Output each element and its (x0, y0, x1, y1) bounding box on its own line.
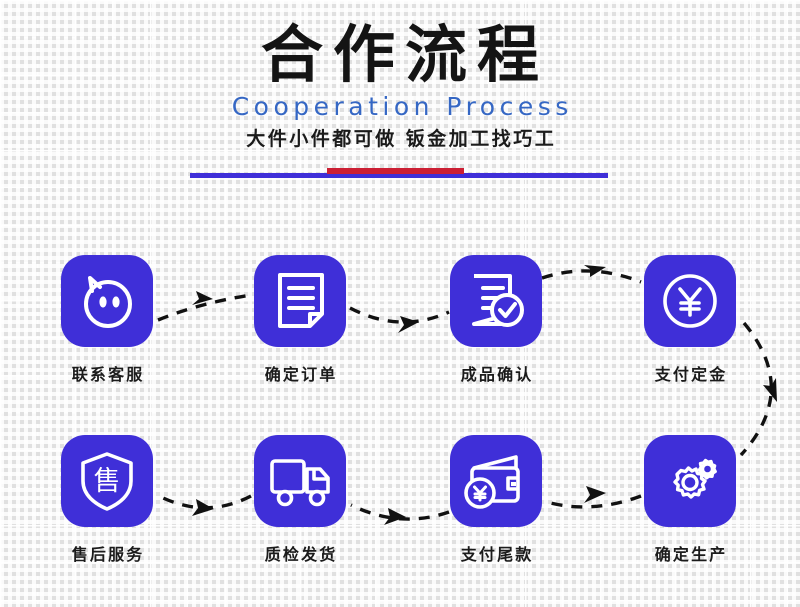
page-title: 合作流程 (0, 0, 800, 89)
flow-step-4[interactable]: 支付定金 (630, 255, 750, 385)
document-check-icon (465, 270, 527, 332)
wallet-yen-icon (464, 451, 528, 511)
flow-step-1[interactable]: 联系客服 (47, 255, 167, 385)
flow-step-7-label: 质检发货 (240, 541, 360, 565)
flow-step-2-tile[interactable] (254, 255, 346, 347)
document-order-icon (270, 270, 330, 332)
flow-step-8-label: 售后服务 (47, 541, 167, 565)
flow-step-6[interactable]: 支付尾款 (436, 435, 556, 565)
delivery-truck-icon (267, 452, 333, 510)
connector-2-to-3 (350, 308, 449, 333)
flow-step-3-tile[interactable] (450, 255, 542, 347)
page-tagline: 大件小件都可做 钣金加工找巧工 (0, 128, 800, 151)
yen-coin-icon (659, 270, 721, 332)
poster-canvas: 合作流程 Cooperation Process 大件小件都可做 钣金加工找巧工 (0, 0, 800, 607)
connector-1-to-2 (158, 291, 251, 320)
header-divider (190, 168, 608, 180)
flow-step-1-label: 联系客服 (47, 361, 167, 385)
flow-step-3[interactable]: 成品确认 (436, 255, 556, 385)
divider-red-bar (327, 168, 464, 174)
connector-6-to-7 (351, 505, 449, 525)
flow-step-3-label: 成品确认 (436, 361, 556, 385)
flow-step-5[interactable]: 确定生产 (630, 435, 750, 565)
shield-glyph: 售 (94, 466, 121, 497)
gears-icon (658, 450, 722, 512)
flow-step-5-tile[interactable] (644, 435, 736, 527)
flow-step-4-tile[interactable] (644, 255, 736, 347)
customer-service-face-icon (76, 270, 138, 332)
connector-3-to-4 (542, 265, 641, 282)
flow-step-8-tile[interactable]: 售 (61, 435, 153, 527)
flow-step-7-tile[interactable] (254, 435, 346, 527)
flow-step-8[interactable]: 售 售后服务 (47, 435, 167, 565)
flow-step-4-label: 支付定金 (630, 361, 750, 385)
flow-step-2-label: 确定订单 (240, 361, 360, 385)
connector-7-to-8 (157, 495, 251, 516)
page-subtitle-english: Cooperation Process (0, 93, 800, 121)
flow-step-6-label: 支付尾款 (436, 541, 556, 565)
flow-step-5-label: 确定生产 (630, 541, 750, 565)
flow-step-7[interactable]: 质检发货 (240, 435, 360, 565)
flow-step-1-tile[interactable] (61, 255, 153, 347)
connector-5-to-6 (543, 486, 641, 507)
flow-step-6-tile[interactable] (450, 435, 542, 527)
shield-after-sales-icon: 售 (77, 449, 137, 513)
flow-step-2[interactable]: 确定订单 (240, 255, 360, 385)
header: 合作流程 Cooperation Process 大件小件都可做 钣金加工找巧工 (0, 0, 800, 151)
